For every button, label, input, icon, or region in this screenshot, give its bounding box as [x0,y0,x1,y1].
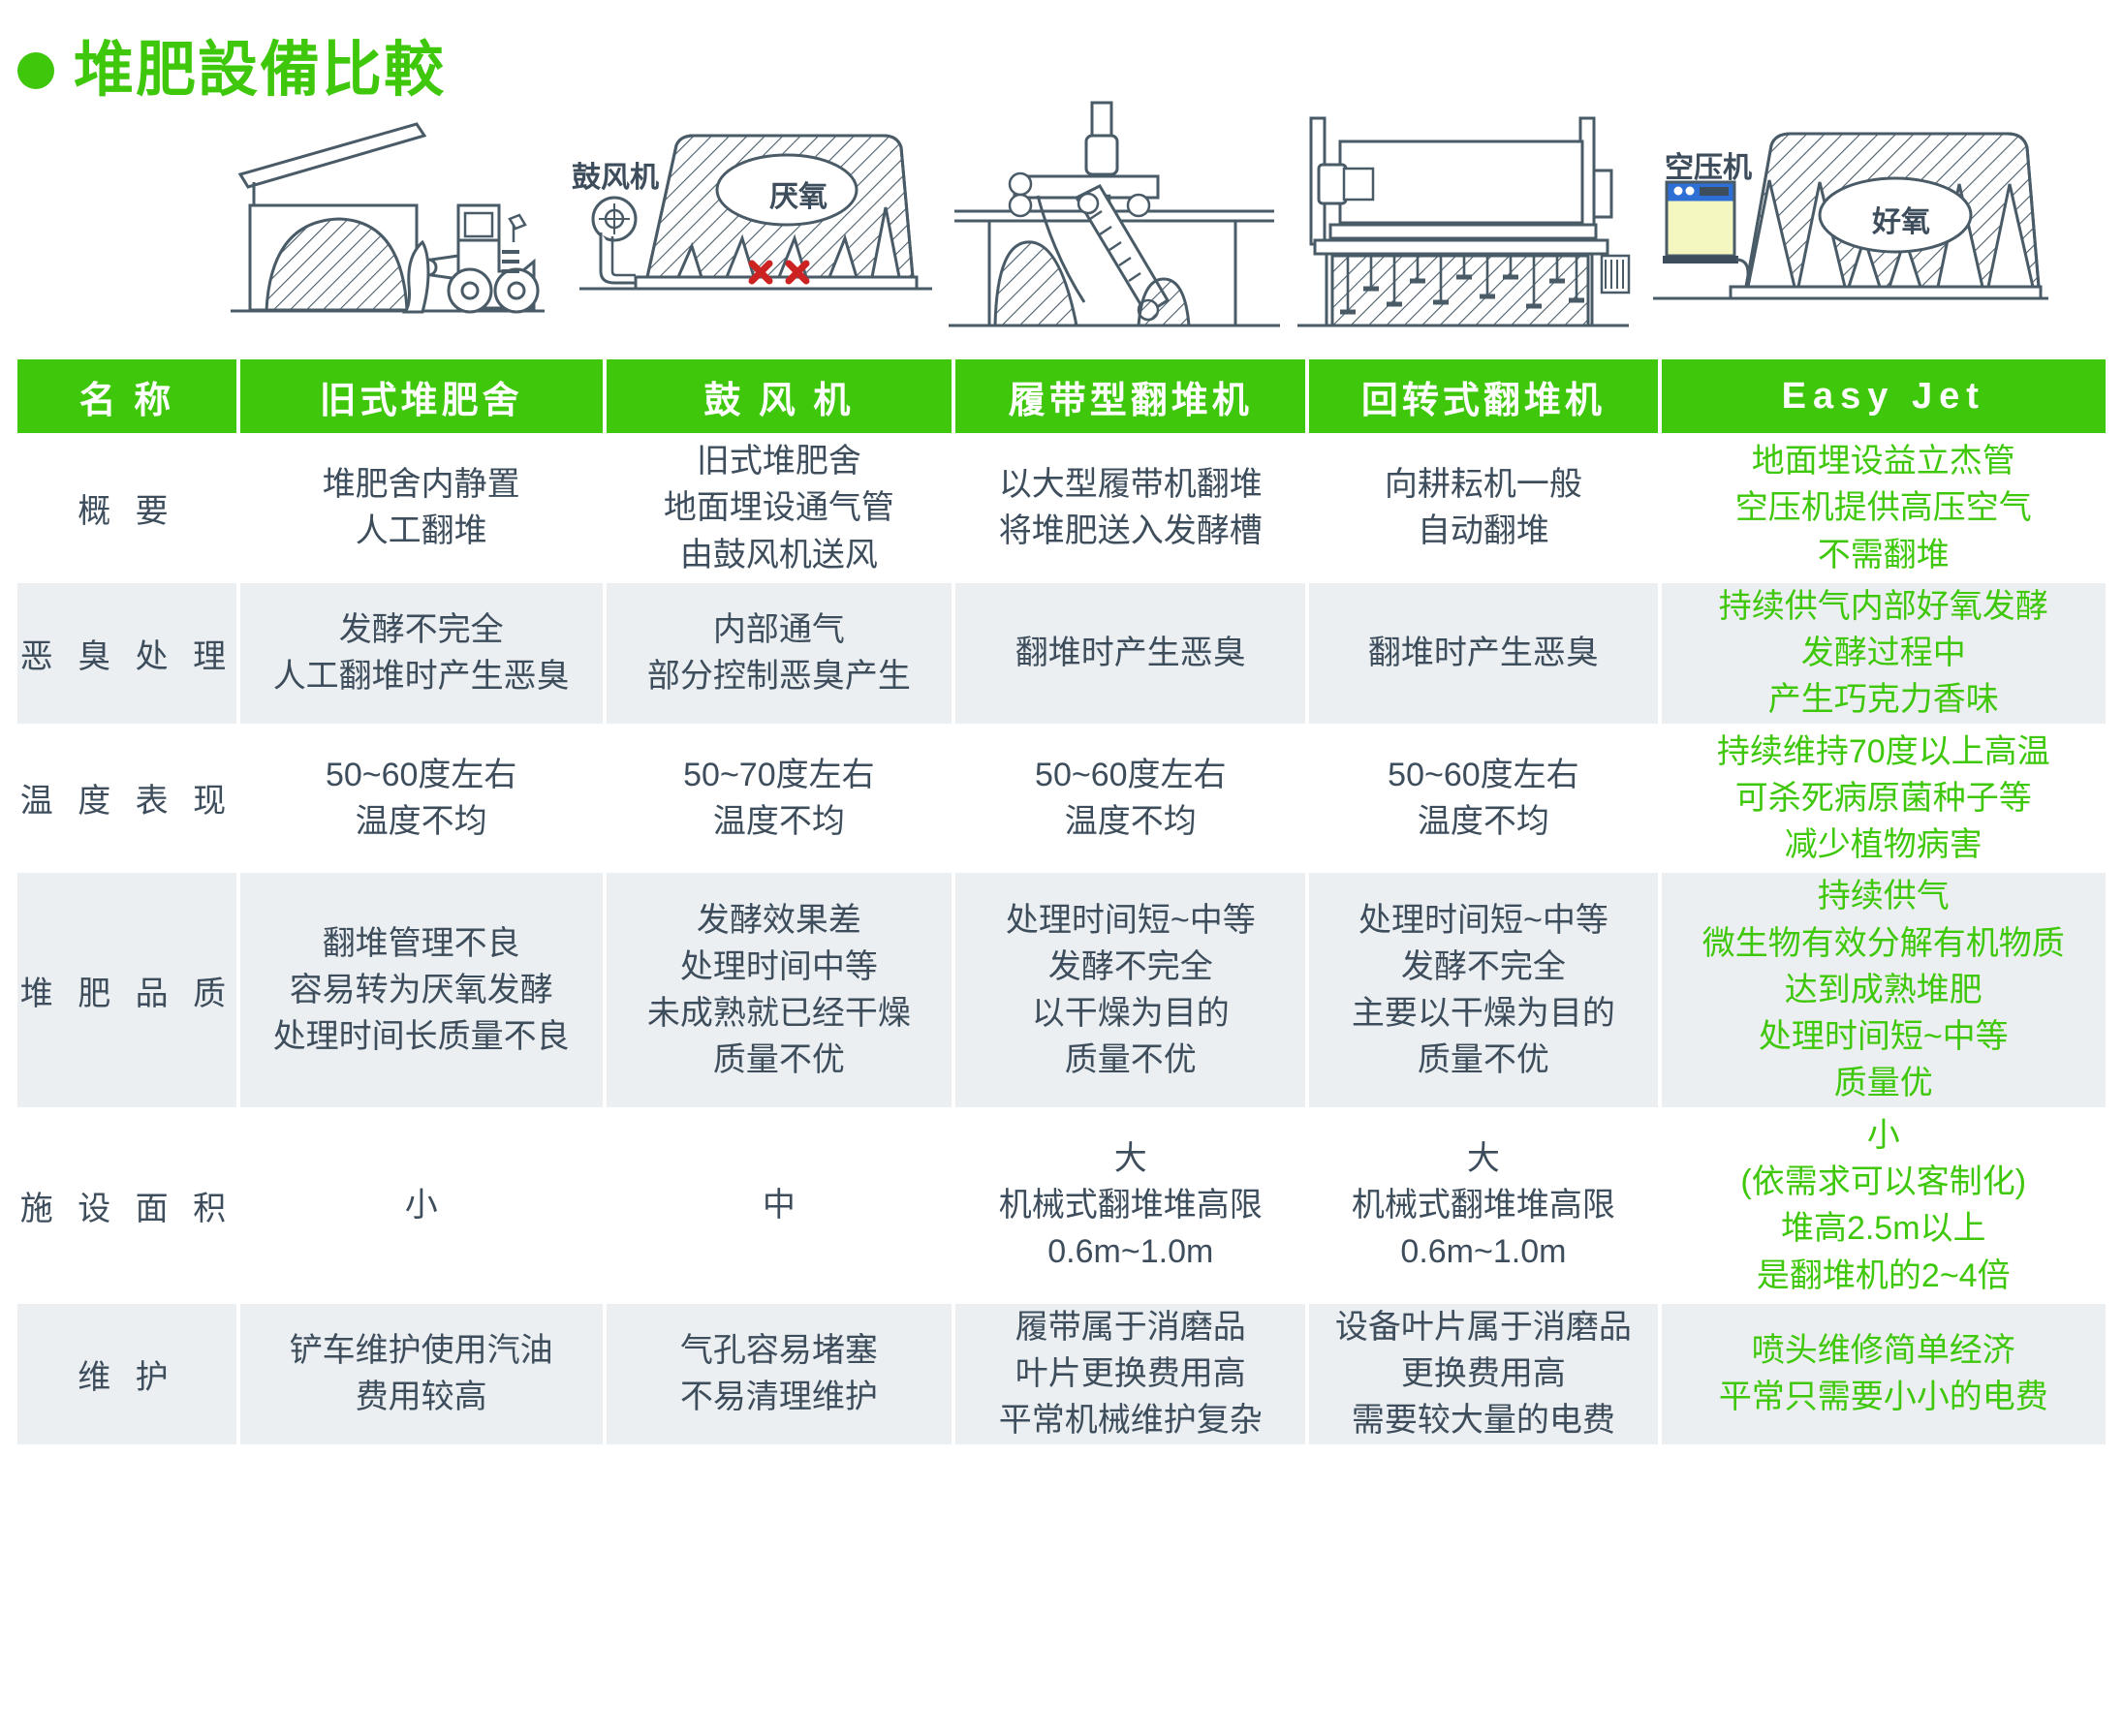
cell-odor-blower: 内部通气部分控制恶臭产生 [607,583,952,724]
header-crawler-turner: 履带型翻堆机 [955,359,1305,433]
row-label-maintenance: 维 护 [17,1304,236,1444]
cell-temperature-easy-jet: 持续维持70度以上高温可杀死病原菌种子等减少植物病害 [1662,728,2106,869]
cell-maintenance-rotary: 设备叶片属于消磨品更换费用高需要较大量的电费 [1309,1304,1657,1444]
table-row: 维 护 铲车维护使用汽油费用较高 气孔容易堵塞不易清理维护 履带属于消磨品叶片更… [17,1304,2106,1444]
cell-overview-blower: 旧式堆肥舍地面埋设通气管由鼓风机送风 [607,438,952,578]
cell-quality-crawler: 处理时间短~中等发酵不完全以干燥为目的质量不优 [955,873,1305,1106]
table-header-row: 名 称 旧式堆肥舍 鼓 风 机 履带型翻堆机 回转式翻堆机 Easy Jet [17,359,2106,433]
cell-odor-rotary: 翻堆时产生恶臭 [1309,583,1657,724]
cell-maintenance-blower: 气孔容易堵塞不易清理维护 [607,1304,952,1444]
cell-maintenance-old-shed: 铲车维护使用汽油费用较高 [240,1304,603,1444]
page-title-text: 堆肥設備比較 [74,41,446,101]
row-label-facility-area: 施 设 面 积 [17,1112,236,1299]
rotary-turner-illustration [1294,97,1633,339]
table-row: 概 要 堆肥舍内静置人工翻堆 旧式堆肥舍地面埋设通气管由鼓风机送风 以大型履带机… [17,438,2106,578]
cell-quality-rotary: 处理时间短~中等发酵不完全主要以干燥为目的质量不优 [1309,873,1657,1106]
cell-overview-old-shed: 堆肥舍内静置人工翻堆 [240,438,603,578]
table-row: 堆 肥 品 质 翻堆管理不良容易转为厌氧发酵处理时间长质量不良 发酵效果差处理时… [17,873,2106,1106]
cell-quality-old-shed: 翻堆管理不良容易转为厌氧发酵处理时间长质量不良 [240,873,603,1106]
header-name: 名 称 [17,359,236,433]
old-compost-shed-illustration [223,97,552,339]
blower-illustration: 鼓风机 [572,97,940,339]
cell-overview-crawler: 以大型履带机翻堆将堆肥送入发酵槽 [955,438,1305,578]
header-easy-jet: Easy Jet [1662,359,2106,433]
row-label-temperature: 温 度 表 现 [17,728,236,869]
cell-area-easy-jet: 小(依需求可以客制化)堆高2.5m以上是翻堆机的2~4倍 [1662,1112,2106,1299]
cell-overview-easy-jet: 地面埋设益立杰管空压机提供高压空气不需翻堆 [1662,438,2106,578]
compressor-label: 空压机 [1665,143,1752,186]
cell-area-blower: 中 [607,1112,952,1299]
table-row: 恶 臭 处 理 发酵不完全人工翻堆时产生恶臭 内部通气部分控制恶臭产生 翻堆时产… [17,583,2106,724]
comparison-table: 名 称 旧式堆肥舍 鼓 风 机 履带型翻堆机 回转式翻堆机 Easy Jet 概… [14,355,2109,1449]
table-row: 温 度 表 现 50~60度左右温度不均 50~70度左右温度不均 50~60度… [17,728,2106,869]
table-row: 施 设 面 积 小 中 大机械式翻堆堆高限0.6m~1.0m 大机械式翻堆堆高限… [17,1112,2106,1299]
cell-temperature-crawler: 50~60度左右温度不均 [955,728,1305,869]
cell-temperature-blower: 50~70度左右温度不均 [607,728,952,869]
easy-jet-illustration: 空压机 [1647,97,2054,339]
cell-odor-old-shed: 发酵不完全人工翻堆时产生恶臭 [240,583,603,724]
cell-odor-crawler: 翻堆时产生恶臭 [955,583,1305,724]
cell-maintenance-crawler: 履带属于消磨品叶片更换费用高平常机械维护复杂 [955,1304,1305,1444]
blower-label: 鼓风机 [572,153,659,196]
cell-odor-easy-jet: 持续供气内部好氧发酵发酵过程中产生巧克力香味 [1662,583,2106,724]
cell-temperature-rotary: 50~60度左右温度不均 [1309,728,1657,869]
cell-overview-rotary: 向耕耘机一般自动翻堆 [1309,438,1657,578]
cell-area-crawler: 大机械式翻堆堆高限0.6m~1.0m [955,1112,1305,1299]
cell-area-rotary: 大机械式翻堆堆高限0.6m~1.0m [1309,1112,1657,1299]
row-label-overview: 概 要 [17,438,236,578]
crawler-turner-illustration [945,97,1284,339]
header-blower: 鼓 风 机 [607,359,952,433]
compost-equipment-comparison-page: 堆肥設備比較 [0,0,2123,1736]
header-old-shed: 旧式堆肥舍 [240,359,603,433]
row-label-odor: 恶 臭 处 理 [17,583,236,724]
cell-quality-blower: 发酵效果差处理时间中等未成熟就已经干燥质量不优 [607,873,952,1106]
aerobic-balloon-label: 好氧 [1872,198,1930,240]
header-rotary-turner: 回转式翻堆机 [1309,359,1657,433]
cell-quality-easy-jet: 持续供气微生物有效分解有机物质达到成熟堆肥处理时间短~中等质量优 [1662,873,2106,1106]
cell-maintenance-easy-jet: 喷头维修简单经济平常只需要小小的电费 [1662,1304,2106,1444]
anaerobic-balloon-label: 厌氧 [769,172,827,215]
illustration-strip: 鼓风机 [0,97,2123,344]
cell-temperature-old-shed: 50~60度左右温度不均 [240,728,603,869]
row-label-compost-quality: 堆 肥 品 质 [17,873,236,1106]
cell-area-old-shed: 小 [240,1112,603,1299]
bullet-dot-icon [17,52,54,89]
